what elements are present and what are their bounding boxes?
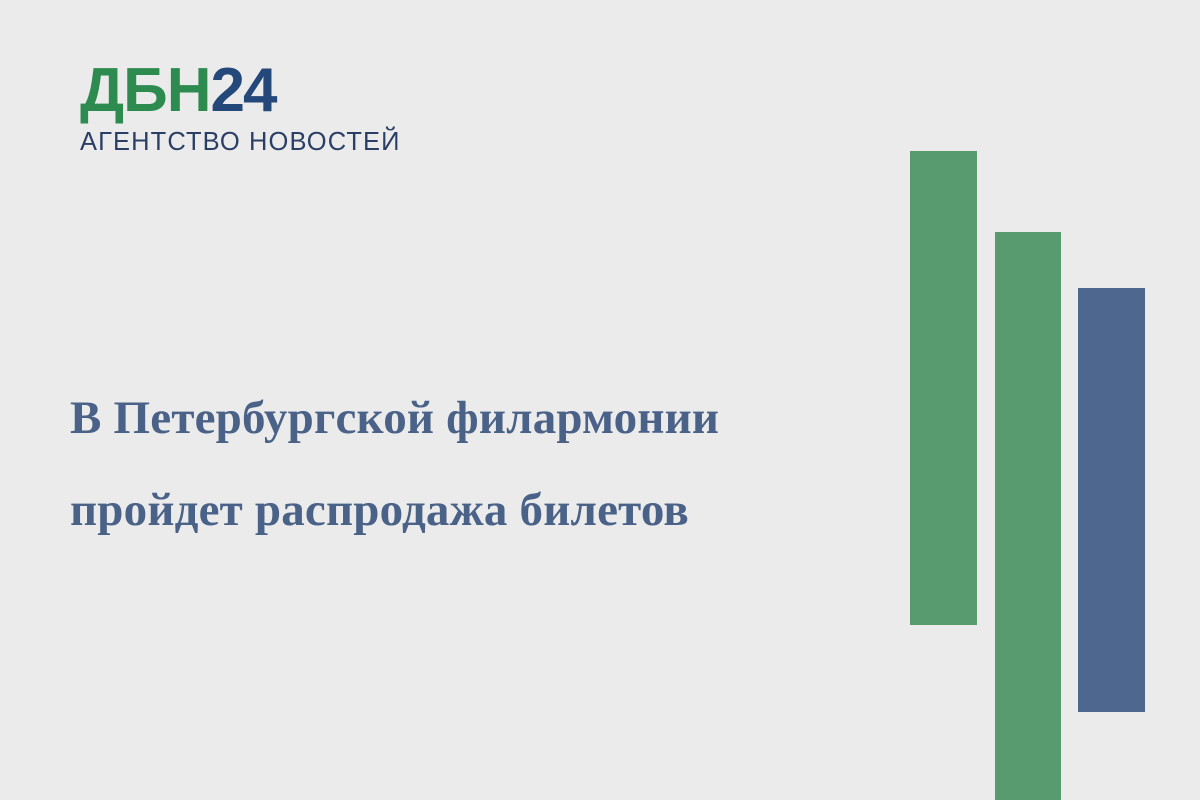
- chart-bar-3: [1078, 288, 1145, 712]
- headline-line-2: пройдет распродажа билетов: [70, 464, 870, 556]
- headline: В Петербургской филармонии пройдет распр…: [70, 372, 870, 556]
- news-card: ДБН24 АГЕНТСТВО НОВОСТЕЙ В Петербургской…: [0, 0, 1200, 800]
- logo-wordmark: ДБН24: [80, 62, 380, 120]
- logo-tagline: АГЕНТСТВО НОВОСТЕЙ: [80, 128, 380, 157]
- headline-line-1: В Петербургской филармонии: [70, 372, 870, 464]
- chart-bar-2: [995, 232, 1061, 800]
- logo-text-abn: ДБН: [80, 56, 211, 125]
- logo-text-24: 24: [211, 56, 276, 125]
- chart-bar-1: [910, 151, 977, 625]
- abn24-logo: ДБН24 АГЕНТСТВО НОВОСТЕЙ: [80, 62, 380, 162]
